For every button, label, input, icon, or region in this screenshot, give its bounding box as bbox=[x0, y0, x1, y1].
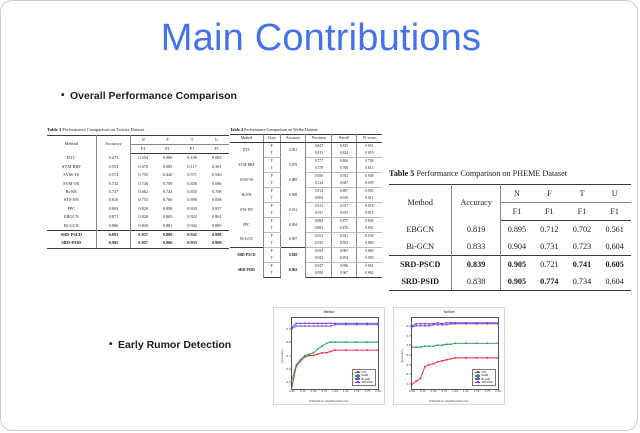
series-marker bbox=[356, 324, 358, 326]
legend-swatch-icon bbox=[475, 372, 480, 373]
table-row: Bi-GCN0.8860.8300.8810.9420.885 bbox=[47, 222, 229, 231]
series-marker bbox=[450, 322, 452, 324]
cell-class: T bbox=[263, 240, 280, 248]
series-marker bbox=[345, 341, 347, 343]
cell-precision: 0.954 bbox=[306, 248, 332, 256]
y-axis-tick-label: 0.8 bbox=[407, 324, 411, 328]
y-axis-tick-label: 0.5 bbox=[287, 380, 291, 384]
x-axis-tick-label: 1.50 bbox=[354, 390, 360, 393]
cell-accuracy: 0.863 bbox=[96, 205, 131, 213]
table3-label: Table 3 bbox=[47, 127, 61, 132]
x-axis-tick-label: 1.00 bbox=[452, 390, 458, 393]
cell-recall: 0.954 bbox=[332, 240, 356, 248]
series-marker bbox=[296, 325, 298, 327]
series-marker bbox=[330, 341, 332, 343]
col-header-class: Class bbox=[263, 135, 280, 143]
cell-recall: 0.876 bbox=[332, 225, 356, 233]
table-row: SRD-PSCDF0.9490.9540.9650.869 bbox=[230, 248, 382, 256]
cell-recall: 0.656 bbox=[332, 158, 356, 166]
series-marker bbox=[345, 324, 347, 326]
chart-twitter: Twitter Accuracy Detection deadline(hour… bbox=[393, 307, 505, 405]
series-marker bbox=[446, 359, 448, 361]
series-marker bbox=[326, 343, 328, 345]
series-marker bbox=[433, 363, 435, 365]
cell-precision: 0.893 bbox=[306, 225, 332, 233]
series-marker bbox=[486, 357, 488, 359]
y-axis-tick-label: 0.3 bbox=[407, 372, 411, 376]
series-marker bbox=[291, 327, 293, 329]
series-marker bbox=[304, 325, 306, 327]
cell-precision: 0.947 bbox=[306, 263, 332, 271]
cell-accuracy: 0.833 bbox=[452, 238, 500, 256]
table4-caption: Table 4 Performance Comparison on Weibo … bbox=[230, 127, 382, 132]
cell-n-f1: 0.895 bbox=[500, 220, 533, 238]
series-marker bbox=[317, 353, 319, 355]
x-axis-tick-label: 1.75 bbox=[484, 390, 490, 393]
table-row: EBGCN0.8190.8950.7120.7020.561 bbox=[389, 220, 631, 238]
series-marker bbox=[296, 323, 298, 325]
series-marker bbox=[366, 341, 368, 343]
cell-recall: 0.815 bbox=[332, 143, 356, 151]
table-row: PPC0.8630.8200.8980.8430.837 bbox=[47, 205, 229, 213]
table-row: DTC0.4730.2540.0800.1900.082 bbox=[47, 154, 229, 163]
table5-label: Table 5 bbox=[389, 169, 414, 178]
series-marker bbox=[416, 346, 418, 348]
cell-class: T bbox=[263, 255, 280, 263]
cell-accuracy: 0.912 bbox=[280, 203, 306, 218]
series-marker bbox=[476, 322, 478, 324]
table4-label: Table 4 bbox=[230, 127, 243, 132]
cell-method: SVM-TS bbox=[47, 171, 96, 179]
col-header-f: F bbox=[155, 135, 180, 144]
series-marker bbox=[428, 323, 430, 325]
cell-f1-score: 0.869 bbox=[356, 248, 382, 256]
cell-f1-score: 0.831 bbox=[356, 143, 382, 151]
series-marker bbox=[296, 364, 298, 366]
cell-method: SRD-PSCD bbox=[47, 230, 96, 239]
series-marker bbox=[486, 343, 488, 345]
series-marker bbox=[476, 357, 478, 359]
cell-f-f1: 0.709 bbox=[155, 180, 180, 188]
series-marker bbox=[300, 325, 302, 327]
cell-u-f1: 0.361 bbox=[204, 163, 229, 171]
cell-method: Bi-GCN bbox=[230, 233, 263, 248]
table3-twitter: Table 3 Performance Comparison on Twitte… bbox=[47, 127, 229, 249]
table4-grid: MethodClassAccuracyPrecisionRecallF1-sco… bbox=[230, 134, 382, 278]
col-header-method: Method bbox=[47, 135, 96, 154]
cell-class: T bbox=[263, 225, 280, 233]
cell-class: F bbox=[263, 203, 280, 211]
series-marker bbox=[441, 360, 443, 362]
col-subheader-f1: F1 bbox=[533, 202, 566, 220]
series-marker bbox=[437, 324, 439, 326]
series-marker bbox=[497, 343, 499, 345]
series-marker bbox=[300, 359, 302, 361]
chart-twitter-legend: DTCRvNNBi-GCNSRD-PSID bbox=[472, 369, 496, 386]
series-marker bbox=[326, 323, 328, 325]
cell-accuracy: 0.905 bbox=[96, 239, 131, 248]
col-header-recall: Recall bbox=[332, 135, 356, 143]
legend-swatch-icon bbox=[355, 372, 360, 373]
cell-recall: 0.824 bbox=[332, 150, 356, 158]
cell-recall: 0.897 bbox=[332, 188, 356, 196]
cell-n-f1: 0.905 bbox=[500, 273, 533, 291]
y-axis-tick-label: 0.6 bbox=[287, 367, 291, 371]
cell-f-f1: 0.898 bbox=[155, 205, 180, 213]
cell-f1-score: 0.962 bbox=[356, 270, 382, 278]
cell-accuracy: 0.949 bbox=[280, 248, 306, 263]
cell-n-f1: 0.740 bbox=[131, 180, 156, 188]
cell-t-f1: 0.836 bbox=[180, 180, 205, 188]
cell-precision: 0.777 bbox=[306, 158, 332, 166]
cell-precision: 0.952 bbox=[306, 233, 332, 241]
series-marker bbox=[330, 325, 332, 327]
table3-caption: Table 3 Performance Comparison on Twitte… bbox=[47, 127, 229, 133]
cell-f1-score: 0.918 bbox=[356, 203, 382, 211]
series-marker bbox=[377, 323, 379, 325]
series-marker bbox=[424, 323, 426, 325]
cell-recall: 0.965 bbox=[332, 248, 356, 256]
cell-accuracy: 0.737 bbox=[96, 188, 131, 196]
cell-n-f1: 0.662 bbox=[131, 188, 156, 196]
y-axis-tick-label: 0.7 bbox=[407, 334, 411, 338]
series-marker bbox=[308, 355, 310, 357]
col-header-method: Method bbox=[389, 184, 452, 220]
cell-f-f1: 0.731 bbox=[533, 238, 566, 256]
cell-f-f1: 0.865 bbox=[155, 213, 180, 221]
legend-label: SRD-PSID bbox=[482, 381, 493, 384]
series-marker bbox=[465, 357, 467, 359]
cell-method: RvNN bbox=[230, 188, 263, 203]
col-subheader-f1: F1 bbox=[180, 144, 205, 153]
cell-method: PPC bbox=[230, 218, 263, 233]
cell-method: DTC bbox=[47, 154, 96, 163]
cell-f-f1: 0.085 bbox=[155, 163, 180, 171]
series-marker bbox=[304, 355, 306, 357]
table-row: SRD-PSCD0.8390.9050.7210.7410.605 bbox=[389, 255, 631, 273]
bullet-early-rumor-detection: • Early Rumor Detection bbox=[109, 339, 231, 351]
series-marker bbox=[377, 341, 379, 343]
legend-item: SRD-PSID bbox=[355, 381, 373, 384]
y-axis-tick-label: 0.9 bbox=[287, 327, 291, 331]
cell-f1-score: 0.936 bbox=[356, 233, 382, 241]
table-row: SRD-PSID0.9050.8570.9060.9530.909 bbox=[47, 239, 229, 248]
cell-precision: 0.911 bbox=[306, 210, 332, 218]
col-subheader-f1: F1 bbox=[566, 202, 599, 220]
cell-u-f1: 0.708 bbox=[204, 188, 229, 196]
y-axis-tick-label: 0.8 bbox=[287, 340, 291, 344]
series-marker bbox=[446, 324, 448, 326]
cell-f-f1: 0.774 bbox=[533, 273, 566, 291]
col-header-f: F bbox=[533, 184, 566, 202]
col-header-u: U bbox=[598, 184, 631, 202]
cell-recall: 0.877 bbox=[332, 218, 356, 226]
col-header-u: U bbox=[204, 135, 229, 144]
table-row: PPCF0.9040.8840.8770.849 bbox=[230, 218, 382, 226]
series-marker bbox=[308, 325, 310, 327]
chart-weibo-ylabel: Accuracy bbox=[280, 349, 284, 363]
cell-f1-score: 0.950 bbox=[356, 255, 382, 263]
cell-f-f1: 0.712 bbox=[533, 220, 566, 238]
series-marker bbox=[366, 324, 368, 326]
cell-class: T bbox=[263, 150, 280, 158]
x-axis-tick-label: 0.75 bbox=[441, 390, 447, 393]
cell-method: SVM-TK bbox=[47, 180, 96, 188]
legend-swatch-icon bbox=[355, 375, 360, 376]
cell-precision: 0.904 bbox=[306, 195, 332, 203]
cell-method: STS-NN bbox=[47, 196, 96, 204]
cell-precision: 0.579 bbox=[306, 165, 332, 173]
series-marker bbox=[437, 322, 439, 324]
cell-t-f1: 0.843 bbox=[180, 205, 205, 213]
series-marker bbox=[356, 323, 358, 325]
legend-swatch-icon bbox=[475, 375, 480, 376]
cell-method: SRD-PSID bbox=[389, 273, 452, 291]
cell-f1-score: 0.911 bbox=[356, 195, 382, 203]
cell-accuracy: 0.732 bbox=[96, 180, 131, 188]
series-marker bbox=[308, 323, 310, 325]
series-marker bbox=[446, 343, 448, 345]
cell-accuracy: 0.962 bbox=[280, 263, 306, 278]
cell-f-f1: 0.420 bbox=[155, 171, 180, 179]
col-header-f1-score: F1-score bbox=[356, 135, 382, 143]
series-marker bbox=[321, 325, 323, 327]
cell-f1-score: 0.819 bbox=[356, 150, 382, 158]
cell-t-f1: 0.723 bbox=[566, 238, 599, 256]
table-header-row: MethodAccuracyNFTU bbox=[47, 135, 229, 144]
series-marker bbox=[300, 323, 302, 325]
cell-recall: 0.932 bbox=[332, 173, 356, 181]
series-marker bbox=[450, 343, 452, 345]
cell-precision: 0.950 bbox=[306, 173, 332, 181]
series-marker bbox=[330, 351, 332, 353]
cell-accuracy: 0.885 bbox=[280, 173, 306, 188]
cell-n-f1: 0.905 bbox=[500, 255, 533, 273]
series-marker bbox=[437, 361, 439, 363]
table4-caption-text: Performance Comparison on Weibo Dataset bbox=[244, 127, 318, 132]
col-subheader-f1: F1 bbox=[500, 202, 533, 220]
series-marker bbox=[428, 325, 430, 327]
legend-item: SRD-PSID bbox=[475, 381, 493, 384]
cell-u-f1: 0.838 bbox=[204, 196, 229, 204]
chart-weibo-plot-area: DTCRvNNBi-GCNSRD-PSID 0.50.60.70.80.90.0… bbox=[291, 317, 379, 390]
y-axis-tick-label: 0.4 bbox=[407, 363, 411, 367]
bullet-label: Overall Performance Comparison bbox=[70, 90, 237, 102]
y-axis-tick-label: 0.5 bbox=[407, 353, 411, 357]
cell-method: SRD-PSID bbox=[47, 239, 96, 248]
bullet-marker-icon: • bbox=[61, 90, 70, 101]
series-marker bbox=[446, 322, 448, 324]
cell-recall: 0.967 bbox=[332, 270, 356, 278]
table-row: SRD-PSIDF0.9620.9470.9560.961 bbox=[230, 263, 382, 271]
series-marker bbox=[334, 323, 336, 325]
x-axis-tick-label: 0.00 bbox=[409, 390, 415, 393]
cell-class: F bbox=[263, 248, 280, 256]
table5-caption-text: Performance Comparison on PHEME Dataset bbox=[416, 169, 567, 178]
series-marker bbox=[313, 352, 315, 354]
table-row: EBGCN0.8710.8200.8650.9220.861 bbox=[47, 213, 229, 221]
cell-method: SRD-PSID bbox=[230, 263, 263, 278]
cell-n-f1: 0.857 bbox=[131, 239, 156, 248]
col-header-accuracy: Accuracy bbox=[452, 184, 500, 220]
series-marker bbox=[291, 328, 293, 330]
series-marker bbox=[313, 355, 315, 357]
cell-accuracy: 0.879 bbox=[280, 158, 306, 173]
cell-precision: 0.847 bbox=[306, 143, 332, 151]
x-axis-tick-label: 0.00 bbox=[289, 390, 295, 393]
cell-method: Bi-GCN bbox=[47, 222, 96, 231]
table-row: SRD-PSID0.8380.9050.7740.7340.604 bbox=[389, 273, 631, 291]
table-header-row: MethodClassAccuracyPrecisionRecallF1-sco… bbox=[230, 135, 382, 143]
series-marker bbox=[321, 352, 323, 354]
table-row: STS-NNF0.9120.9120.9170.918 bbox=[230, 203, 382, 211]
cell-recall: 0.915 bbox=[332, 210, 356, 218]
cell-class: F bbox=[263, 188, 280, 196]
cell-u-f1: 0.561 bbox=[598, 220, 631, 238]
cell-method: DTC bbox=[230, 143, 263, 158]
table5-pheme: Table 5 Performance Comparison on PHEME … bbox=[389, 169, 631, 291]
series-marker bbox=[428, 345, 430, 347]
table-row: SVM-RBFF0.8790.7770.6560.708 bbox=[230, 158, 382, 166]
x-axis-tick-label: 1.25 bbox=[343, 390, 349, 393]
y-axis-tick-label: 0.6 bbox=[407, 343, 411, 347]
x-axis-tick-label: 2.00 bbox=[495, 390, 501, 393]
cell-t-f1: 0.835 bbox=[180, 188, 205, 196]
series-marker bbox=[497, 322, 499, 324]
chart-twitter-xlabel: Detection deadline(hours) bbox=[394, 399, 504, 403]
cell-f-f1: 0.766 bbox=[155, 196, 180, 204]
table-row: RvNNF0.9080.9120.8970.905 bbox=[230, 188, 382, 196]
table-row: SVM-RBF0.5530.6700.0850.1170.361 bbox=[47, 163, 229, 171]
y-axis-tick-label: 0.2 bbox=[407, 382, 411, 386]
legend-swatch-icon bbox=[355, 378, 360, 379]
series-marker bbox=[424, 325, 426, 327]
cell-accuracy: 0.839 bbox=[452, 255, 500, 273]
x-axis-tick-label: 0.25 bbox=[300, 390, 306, 393]
x-axis-tick-label: 0.50 bbox=[311, 390, 317, 393]
cell-accuracy: 0.574 bbox=[96, 171, 131, 179]
bullet-marker-icon: • bbox=[109, 339, 118, 350]
page-title: Main Contributions bbox=[1, 19, 638, 59]
cell-precision: 0.950 bbox=[306, 270, 332, 278]
cell-method: SRD-PSCD bbox=[230, 248, 263, 263]
cell-u-f1: 0.885 bbox=[204, 222, 229, 231]
cell-accuracy: 0.473 bbox=[96, 154, 131, 163]
cell-t-f1: 0.922 bbox=[180, 213, 205, 221]
cell-f1-score: 0.708 bbox=[356, 158, 382, 166]
cell-f-f1: 0.721 bbox=[533, 255, 566, 273]
cell-n-f1: 0.254 bbox=[131, 154, 156, 163]
cell-t-f1: 0.571 bbox=[180, 171, 205, 179]
cell-t-f1: 0.190 bbox=[180, 154, 205, 163]
cell-u-f1: 0.837 bbox=[204, 205, 229, 213]
cell-class: T bbox=[263, 195, 280, 203]
series-marker bbox=[291, 386, 293, 388]
cell-method: EBGCN bbox=[389, 220, 452, 238]
cell-class: F bbox=[263, 218, 280, 226]
series-marker bbox=[317, 325, 319, 327]
table5-grid: MethodAccuracyNFTUF1F1F1F1EBGCN0.8190.89… bbox=[389, 184, 631, 291]
cell-method: SRD-PSCD bbox=[389, 255, 452, 273]
cell-f-f1: 0.881 bbox=[155, 222, 180, 231]
table-header-row: MethodAccuracyNFTU bbox=[389, 184, 631, 202]
col-subheader-f1: F1 bbox=[155, 144, 180, 153]
legend-swatch-icon bbox=[475, 382, 480, 383]
series-marker bbox=[465, 343, 467, 345]
cell-u-f1: 0.526 bbox=[204, 171, 229, 179]
legend-label: SRD-PSID bbox=[362, 381, 373, 384]
series-marker bbox=[420, 346, 422, 348]
cell-f-f1: 0.743 bbox=[155, 188, 180, 196]
cell-precision: 0.942 bbox=[306, 255, 332, 263]
chart-twitter-ylabel: Accuracy bbox=[400, 349, 404, 363]
cell-precision: 0.124 bbox=[306, 180, 332, 188]
series-marker bbox=[441, 344, 443, 346]
cell-class: T bbox=[263, 270, 280, 278]
cell-accuracy: 0.810 bbox=[96, 196, 131, 204]
col-header-n: N bbox=[131, 135, 156, 144]
chart-weibo: Weibo Accuracy Detection deadline(hours)… bbox=[273, 307, 385, 405]
cell-accuracy: 0.891 bbox=[96, 230, 131, 239]
series-marker bbox=[437, 344, 439, 346]
cell-u-f1: 0.898 bbox=[204, 230, 229, 239]
series-marker bbox=[308, 353, 310, 355]
cell-precision: 0.912 bbox=[306, 188, 332, 196]
cell-class: T bbox=[263, 180, 280, 188]
cell-accuracy: 0.908 bbox=[280, 188, 306, 203]
cell-n-f1: 0.670 bbox=[131, 163, 156, 171]
cell-f1-score: 0.615 bbox=[356, 165, 382, 173]
cell-class: T bbox=[263, 210, 280, 218]
series-marker bbox=[321, 345, 323, 347]
cell-recall: 0.954 bbox=[332, 255, 356, 263]
series-marker bbox=[486, 322, 488, 324]
cell-n-f1: 0.820 bbox=[131, 213, 156, 221]
col-subheader-f1: F1 bbox=[131, 144, 156, 153]
cell-method: PPC bbox=[47, 205, 96, 213]
series-marker bbox=[411, 346, 413, 348]
cell-precision: 0.925 bbox=[306, 240, 332, 248]
series-marker bbox=[366, 323, 368, 325]
x-axis-tick-label: 0.75 bbox=[321, 390, 327, 393]
cell-accuracy: 0.819 bbox=[452, 220, 500, 238]
x-axis-tick-label: 1.50 bbox=[474, 390, 480, 393]
cell-u-f1: 0.909 bbox=[204, 239, 229, 248]
series-marker bbox=[454, 322, 456, 324]
series-marker bbox=[377, 324, 379, 326]
cell-recall: 0.956 bbox=[332, 263, 356, 271]
col-header-t: T bbox=[180, 135, 205, 144]
col-header-accuracy: Accuracy bbox=[280, 135, 306, 143]
table-row: STS-NN0.8100.7530.7660.8900.838 bbox=[47, 196, 229, 204]
cell-f1-score: 0.913 bbox=[356, 210, 382, 218]
cell-u-f1: 0.861 bbox=[204, 213, 229, 221]
cell-f1-score: 0.849 bbox=[356, 218, 382, 226]
cell-n-f1: 0.904 bbox=[500, 238, 533, 256]
table-row: Bi-GCN0.8330.9040.7310.7230.604 bbox=[389, 238, 631, 256]
bullet-label: Early Rumor Detection bbox=[118, 339, 231, 351]
series-marker bbox=[454, 357, 456, 359]
cell-method: SVM-RBF bbox=[230, 158, 263, 173]
series-marker bbox=[416, 323, 418, 325]
series-marker bbox=[326, 325, 328, 327]
series-marker bbox=[330, 323, 332, 325]
cell-class: F bbox=[263, 263, 280, 271]
bullet-overall-performance: • Overall Performance Comparison bbox=[61, 90, 237, 102]
series-marker bbox=[433, 323, 435, 325]
y-axis-tick-label: 0.7 bbox=[287, 354, 291, 358]
table3-grid: MethodAccuracyNFTUF1F1F1F1DTC0.4730.2540… bbox=[47, 135, 229, 249]
